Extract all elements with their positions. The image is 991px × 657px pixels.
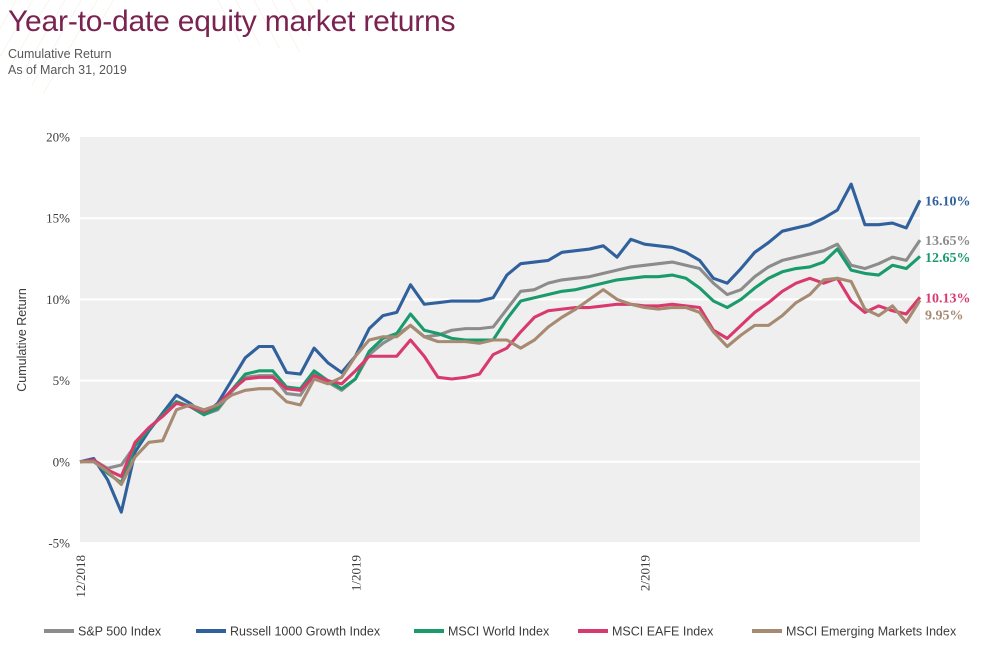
line-chart: 20%15%10%5%0%-5% Cumulative Return 12/20… <box>0 0 991 657</box>
series-end-label: 16.10% <box>925 194 971 209</box>
chart-container: 20%15%10%5%0%-5% Cumulative Return 12/20… <box>0 0 991 657</box>
series-end-labels: 16.10%13.65%12.65%10.13%9.95% <box>925 194 971 323</box>
y-axis-tick-label: 5% <box>53 373 71 388</box>
y-axis-title: Cumulative Return <box>15 288 29 392</box>
legend-item-label[interactable]: S&P 500 Index <box>78 625 162 639</box>
y-axis-tick-label: 15% <box>46 211 70 226</box>
series-end-label: 9.95% <box>925 308 964 323</box>
series-end-label: 13.65% <box>925 234 971 249</box>
y-axis-tick-labels: 20%15%10%5%0%-5% <box>46 130 70 551</box>
chart-legend: S&P 500 IndexRussell 1000 Growth IndexMS… <box>44 625 957 639</box>
series-end-label: 12.65% <box>925 251 971 266</box>
y-axis-tick-label: -5% <box>48 536 70 551</box>
y-axis-tick-label: 0% <box>53 454 71 469</box>
legend-item-label[interactable]: MSCI EAFE Index <box>612 625 714 639</box>
x-axis-tick-labels: 12/20181/20192/2019 <box>73 555 653 598</box>
x-axis-tick-label: 12/2018 <box>73 555 88 598</box>
legend-item-label[interactable]: MSCI World Index <box>448 625 550 639</box>
x-axis-tick-label: 2/2019 <box>638 555 653 591</box>
y-axis-title-text: Cumulative Return <box>15 288 29 392</box>
y-axis-tick-label: 10% <box>46 292 70 307</box>
legend-item-label[interactable]: MSCI Emerging Markets Index <box>786 625 957 639</box>
legend-item-label[interactable]: Russell 1000 Growth Index <box>230 625 381 639</box>
series-end-label: 10.13% <box>925 291 971 306</box>
x-axis-tick-label: 1/2019 <box>348 555 363 591</box>
y-axis-tick-label: 20% <box>46 130 70 145</box>
